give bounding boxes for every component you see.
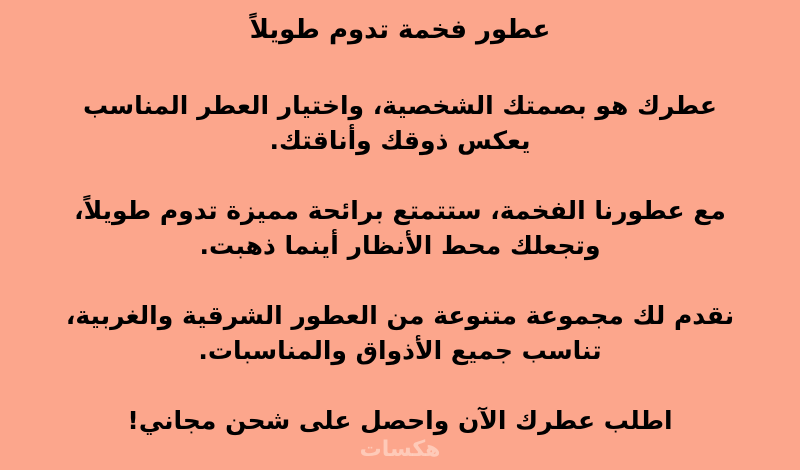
promo-page: عطور فخمة تدوم طويلاً عطرك هو بصمتك الشخ… xyxy=(0,0,800,470)
paragraph-call-to-action: اطلب عطرك الآن واحصل على شحن مجاني! xyxy=(0,404,800,439)
paragraph-signature: عطرك هو بصمتك الشخصية، واختيار العطر الم… xyxy=(0,89,800,158)
paragraph-collection: نقدم لك مجموعة متنوعة من العطور الشرقية … xyxy=(0,299,800,368)
page-title: عطور فخمة تدوم طويلاً xyxy=(0,14,800,48)
paragraph-long-lasting: مع عطورنا الفخمة، ستتمتع برائحة مميزة تد… xyxy=(0,194,800,263)
watermark-text: هكسات xyxy=(0,437,800,462)
